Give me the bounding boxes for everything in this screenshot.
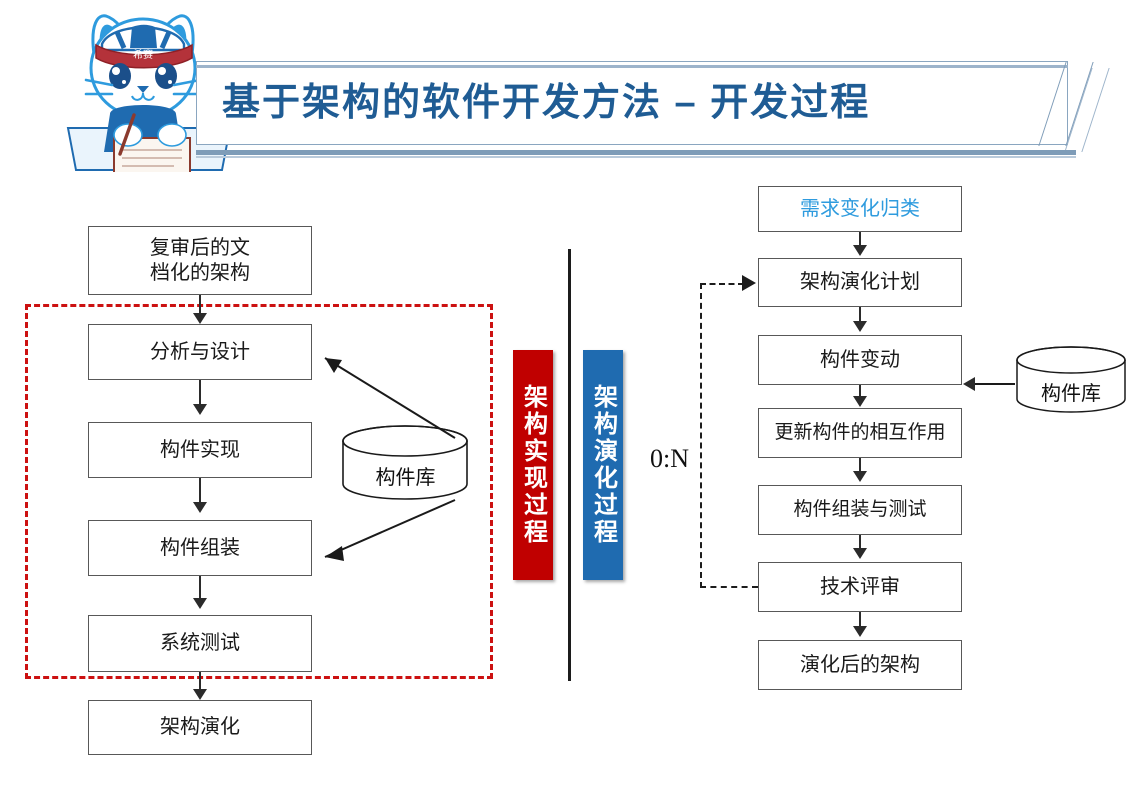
left-box-reviewed-doc-arch-line1: 复审后的文 [150,236,250,260]
chip-arch-implementation-process: 架构实现过程 [513,350,553,580]
left-box-reviewed-doc-arch[interactable]: 复审后的文 档化的架构 [88,226,312,295]
right-box-update-component-interaction[interactable]: 更新构件的相互作用 [758,408,962,458]
page-title: 基于架构的软件开发方法 – 开发过程 [222,74,1042,132]
svg-text:希赛: 希赛 [133,48,153,61]
right-arrowhead-5 [853,548,867,559]
right-arrowhead-1 [853,245,867,256]
left-arrowhead-3 [193,502,207,513]
right-arrowhead-6 [853,626,867,637]
chip-arch-evolution-process: 架构演化过程 [583,350,623,580]
right-repo-connector [975,383,1015,385]
left-repo-to-assembly-arrow [300,485,480,585]
feedback-dashed-vertical [700,283,702,588]
banner-bottom-rule-thin [196,156,1076,158]
right-repo-arrowhead [963,377,975,391]
feedback-dashed-top [700,283,744,285]
left-box-component-impl[interactable]: 构件实现 [88,422,312,478]
right-box-arch-evolution-plan[interactable]: 架构演化计划 [758,258,962,307]
right-repository-label: 构件库 [1012,377,1130,406]
left-arrowhead-4 [193,598,207,609]
header-banner: 希赛 基于架构的软件开发方法 – [0,0,1143,180]
feedback-arrowhead [742,275,756,291]
left-arrowhead-2 [193,404,207,415]
left-box-reviewed-doc-arch-line2: 档化的架构 [150,261,250,285]
right-arrowhead-2 [853,321,867,332]
left-repo-to-analysis-arrow [300,340,480,440]
left-box-arch-evolution[interactable]: 架构演化 [88,700,312,755]
right-box-evolved-architecture[interactable]: 演化后的架构 [758,640,962,690]
left-arrowhead-1 [193,313,207,324]
left-box-component-assembly[interactable]: 构件组装 [88,520,312,576]
right-box-component-assembly-test[interactable]: 构件组装与测试 [758,485,962,535]
right-box-technical-review[interactable]: 技术评审 [758,562,962,612]
cardinality-label: 0:N [650,444,689,474]
right-arrowhead-4 [853,471,867,482]
banner-top-rule [196,65,1068,68]
right-arrowhead-3 [853,396,867,407]
right-box-requirement-change-classify[interactable]: 需求变化归类 [758,186,962,232]
banner-bottom-rule [196,150,1076,155]
right-repository-cylinder[interactable]: 构件库 [1012,345,1130,417]
left-box-analysis-design[interactable]: 分析与设计 [88,324,312,380]
left-box-system-test[interactable]: 系统测试 [88,615,312,672]
left-arrowhead-5 [193,689,207,700]
feedback-dashed-bottom [700,586,758,588]
right-box-component-change[interactable]: 构件变动 [758,335,962,385]
section-divider [568,249,571,681]
